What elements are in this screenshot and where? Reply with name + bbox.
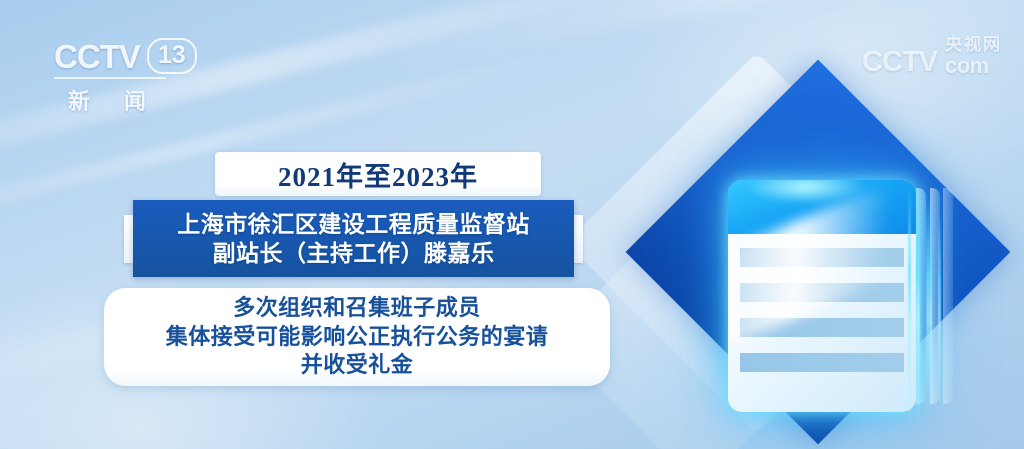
detail-line-3: 并收受礼金 [301, 351, 414, 380]
subject-line-1: 上海市徐汇区建设工程质量监督站 [177, 210, 530, 239]
subject-banner: 上海市徐汇区建设工程质量监督站 副站长（主持工作）滕嘉乐 [133, 200, 574, 277]
watermark-cctv-text: CCTV [862, 48, 937, 77]
document-text-row [740, 248, 904, 267]
watermark-right-stack: 央视网 com [945, 36, 1002, 77]
document-list-icon [728, 180, 916, 412]
period-label: 2021年至2023年 [278, 155, 478, 194]
document-text-row [740, 283, 904, 302]
cyan-light-bar [916, 192, 920, 424]
detail-line-1: 多次组织和召集班子成员 [233, 294, 481, 323]
logo-divider [54, 77, 166, 79]
cyan-light-bar [908, 184, 911, 432]
banner-tab-right [574, 215, 583, 263]
document-text-row [740, 353, 904, 372]
cctv13-logo-row: CCTV 13 [54, 38, 224, 74]
cctv-com-watermark: CCTV 央视网 com [862, 36, 1002, 77]
cctv-wordmark: CCTV [54, 40, 140, 73]
document-body [728, 234, 916, 372]
banner-tab-left [124, 215, 133, 263]
cctv13-channel-logo: CCTV 13 新 闻 [54, 38, 224, 116]
watermark-com-text: com [945, 55, 1002, 77]
detail-panel: 多次组织和召集班子成员 集体接受可能影响公正执行公务的宴请 并收受礼金 [104, 288, 610, 386]
period-bar: 2021年至2023年 [215, 152, 541, 196]
channel-number: 13 [147, 38, 197, 74]
detail-line-2: 集体接受可能影响公正执行公务的宴请 [166, 323, 549, 352]
watermark-cn-text: 央视网 [945, 36, 1002, 53]
cyan-light-bar [938, 210, 941, 406]
broadcast-frame: CCTV 13 新 闻 CCTV 央视网 com 2021年至2023年 上海市… [0, 0, 1024, 449]
document-header-glow [746, 180, 866, 204]
channel-name-label: 新 闻 [54, 84, 174, 116]
document-graphic [616, 84, 1024, 449]
cyan-light-bar [926, 200, 932, 416]
subject-line-2: 副站长（主持工作）滕嘉乐 [213, 239, 495, 268]
page-stack-edge [943, 188, 953, 404]
document-text-row [740, 318, 904, 337]
